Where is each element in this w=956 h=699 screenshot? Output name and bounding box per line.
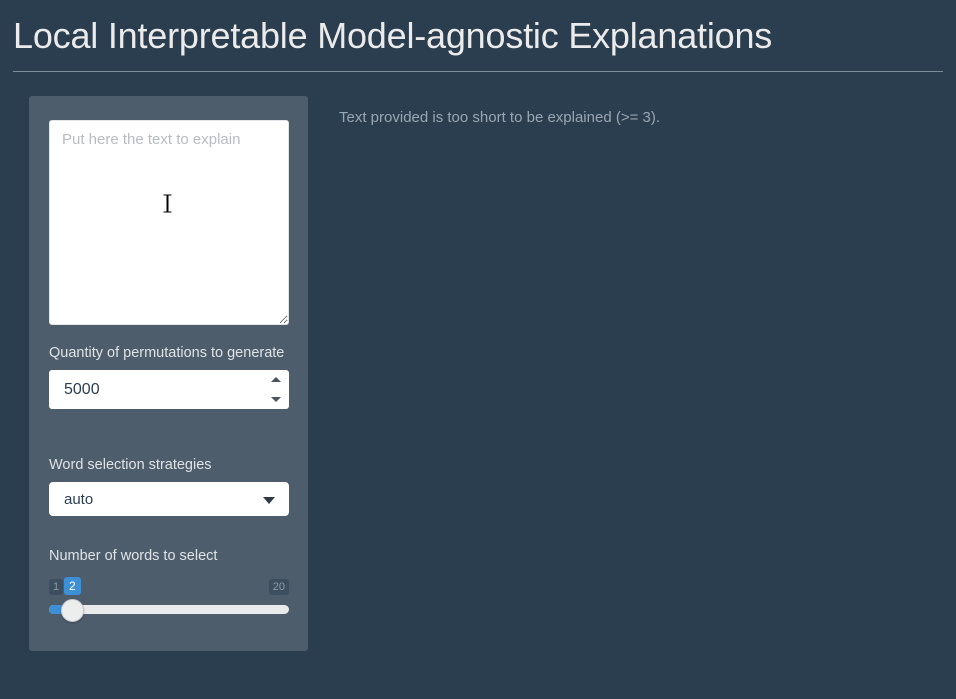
permutations-input[interactable] [49, 370, 289, 409]
permutations-input-row [49, 370, 289, 409]
slider-max-label: 20 [269, 579, 289, 595]
permutations-spinner[interactable] [270, 377, 281, 402]
caret-down-icon[interactable] [271, 397, 281, 402]
slider-handle[interactable] [61, 599, 84, 622]
words-group: Number of words to select 1 20 2 [49, 548, 289, 621]
result-message: Text provided is too short to be explain… [339, 108, 919, 128]
page-header: Local Interpretable Model-agnostic Expla… [13, 0, 943, 58]
controls-panel: Quantity of permutations to generate Wor… [29, 96, 308, 651]
slider-min-label: 1 [49, 579, 63, 595]
strategy-label: Word selection strategies [49, 457, 289, 473]
words-label: Number of words to select [49, 548, 289, 564]
caret-up-icon[interactable] [271, 377, 281, 382]
permutations-label: Quantity of permutations to generate [49, 345, 289, 361]
strategy-select-row: auto [49, 482, 289, 516]
page-title: Local Interpretable Model-agnostic Expla… [13, 0, 943, 58]
result-area: Text provided is too short to be explain… [339, 108, 919, 128]
slider-track[interactable] [49, 605, 289, 614]
strategy-select[interactable]: auto [49, 482, 289, 516]
slider-value-badge: 2 [64, 577, 81, 595]
permutations-group: Quantity of permutations to generate [49, 345, 289, 409]
strategy-group: Word selection strategies auto [49, 457, 289, 516]
text-to-explain-input[interactable] [49, 120, 289, 325]
words-slider[interactable]: 1 20 2 [49, 579, 289, 621]
header-divider [13, 71, 943, 72]
text-input-group [49, 120, 289, 325]
